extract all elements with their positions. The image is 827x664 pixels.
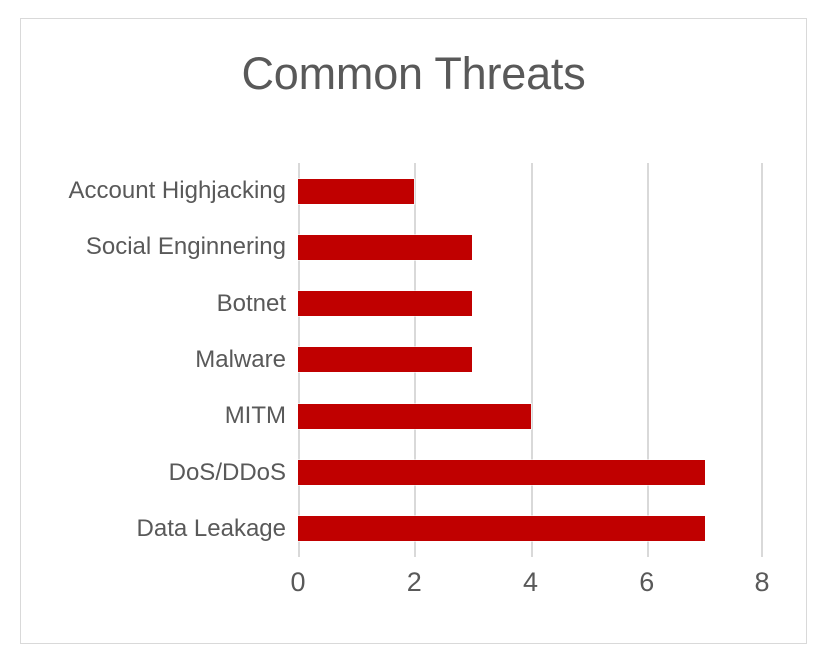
bar-row bbox=[298, 163, 763, 219]
bar-malware bbox=[298, 347, 472, 372]
bar-account-highjacking bbox=[298, 179, 414, 204]
category-label: Social Enginnering bbox=[31, 219, 286, 275]
bar-row bbox=[298, 501, 763, 557]
chart-title: Common Threats bbox=[21, 47, 806, 101]
x-tick-label: 6 bbox=[617, 567, 677, 598]
bar-dos-ddos bbox=[298, 460, 705, 485]
bar-data-leakage bbox=[298, 516, 705, 541]
plot-area bbox=[298, 163, 763, 557]
bar-botnet bbox=[298, 291, 472, 316]
bar-row bbox=[298, 444, 763, 500]
x-tick-label: 2 bbox=[384, 567, 444, 598]
category-label: Botnet bbox=[31, 276, 286, 332]
x-tick-label: 8 bbox=[732, 567, 792, 598]
category-axis-labels: Account Highjacking Social Enginnering B… bbox=[31, 163, 286, 557]
bar-row bbox=[298, 332, 763, 388]
category-label: DoS/DDoS bbox=[31, 444, 286, 500]
category-label: Account Highjacking bbox=[31, 163, 286, 219]
chart-frame: Common Threats Account Highjacking Socia… bbox=[20, 18, 807, 644]
value-axis-labels: 0 2 4 6 8 bbox=[298, 567, 763, 607]
x-tick-label: 4 bbox=[501, 567, 561, 598]
category-label: MITM bbox=[31, 388, 286, 444]
category-label: Data Leakage bbox=[31, 501, 286, 557]
bar-row bbox=[298, 219, 763, 275]
bar-social-enginnering bbox=[298, 235, 472, 260]
x-tick-label: 0 bbox=[268, 567, 328, 598]
bar-row bbox=[298, 388, 763, 444]
bar-row bbox=[298, 276, 763, 332]
category-label: Malware bbox=[31, 332, 286, 388]
bar-mitm bbox=[298, 404, 531, 429]
